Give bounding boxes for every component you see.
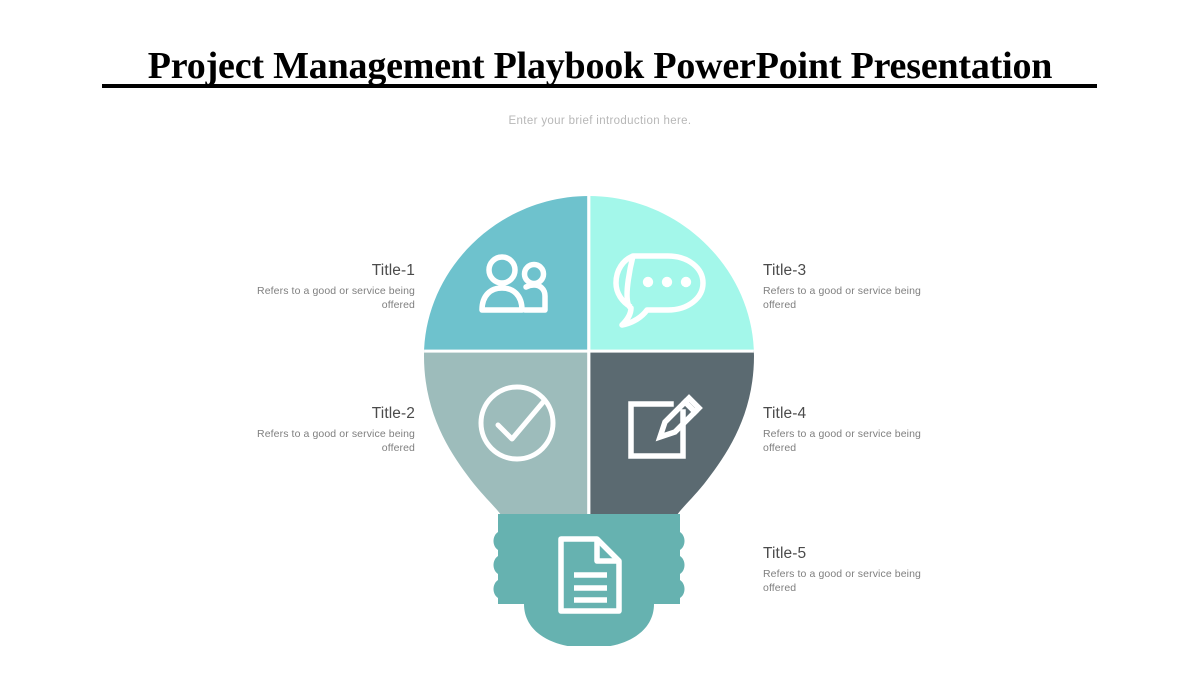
label-title: Title-4 [763,405,933,423]
label-title: Title-2 [250,405,415,423]
label-title: Title-3 [763,262,933,280]
label-title: Title-5 [763,545,933,563]
segment-bottom-right[interactable] [589,351,754,536]
label-block-title-3[interactable]: Title-3 Refers to a good or service bein… [763,262,933,312]
segment-top-left[interactable] [424,196,589,351]
label-description: Refers to a good or service being offere… [250,284,415,312]
label-block-title-1[interactable]: Title-1 Refers to a good or service bein… [250,262,415,312]
segment-top-right[interactable] [589,196,754,351]
lightbulb-diagram [424,196,754,646]
label-block-title-4[interactable]: Title-4 Refers to a good or service bein… [763,405,933,455]
page-title: Project Management Playbook PowerPoint P… [100,44,1100,88]
label-description: Refers to a good or service being offere… [763,284,933,312]
segment-base[interactable] [494,514,685,646]
label-block-title-5[interactable]: Title-5 Refers to a good or service bein… [763,545,933,595]
label-title: Title-1 [250,262,415,280]
title-underline [102,84,1097,88]
slide-subtitle: Enter your brief introduction here. [300,115,900,127]
label-description: Refers to a good or service being offere… [763,567,933,595]
bulb-globe [424,196,754,536]
segment-bottom-left[interactable] [424,351,589,536]
label-description: Refers to a good or service being offere… [763,427,933,455]
label-block-title-2[interactable]: Title-2 Refers to a good or service bein… [250,405,415,455]
label-description: Refers to a good or service being offere… [250,427,415,455]
